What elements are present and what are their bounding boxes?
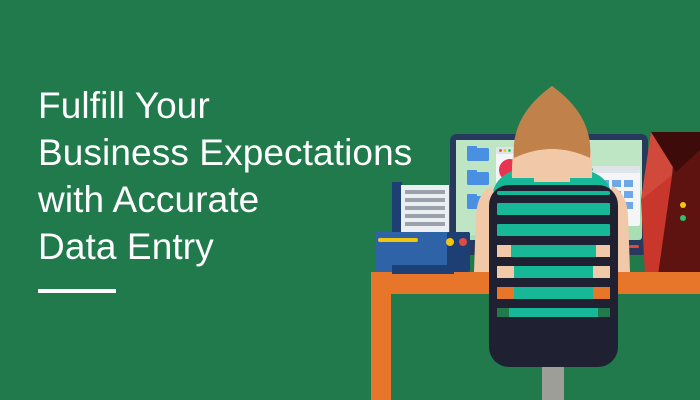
chair-slat	[497, 245, 610, 257]
chair-slat	[497, 224, 610, 236]
headline-line-2: Business Expectations	[38, 129, 458, 176]
suit-button-green	[680, 215, 686, 221]
hero-banner: Fulfill Your Business Expectations with …	[0, 0, 700, 400]
window-dot-red	[499, 149, 502, 152]
folder-icon	[467, 170, 489, 185]
headline-line-3: with Accurate	[38, 176, 458, 223]
folder-icon	[467, 146, 489, 161]
headline-line-4: Data Entry	[38, 223, 458, 270]
chair-slat	[497, 266, 610, 278]
monitor-led-red	[629, 245, 639, 248]
coat-rack-suit	[641, 132, 700, 275]
window-dot-green	[508, 149, 511, 152]
suit-button-yellow	[680, 202, 686, 208]
chair-slat	[497, 287, 610, 299]
chair-slats	[497, 191, 610, 317]
chair-slat	[497, 191, 610, 195]
printer-button-red	[459, 238, 467, 246]
headline-underline	[38, 289, 116, 293]
desk-leg-left	[371, 272, 391, 400]
page-title: Fulfill Your Business Expectations with …	[38, 82, 458, 270]
window-dot-yellow	[504, 149, 507, 152]
chair-slat	[497, 203, 610, 215]
chair-slat	[497, 308, 610, 317]
headline-line-1: Fulfill Your	[38, 82, 458, 129]
